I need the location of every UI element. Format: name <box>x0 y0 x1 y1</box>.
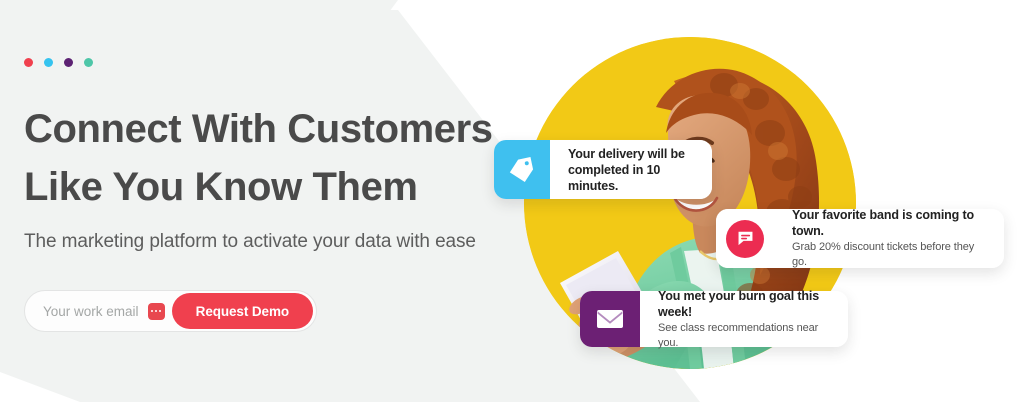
brand-dot-purple-icon <box>64 58 73 67</box>
page-title: Connect With Customers Like You Know The… <box>24 100 524 216</box>
headline-line-2: Like You Know Them <box>24 158 524 216</box>
envelope-icon <box>580 291 640 347</box>
notification-card-burn-goal[interactable]: You met your burn goal this week! See cl… <box>580 291 848 347</box>
page-subtitle: The marketing platform to activate your … <box>24 228 476 256</box>
brand-dots <box>24 58 93 67</box>
headline-line-1: Connect With Customers <box>24 100 524 158</box>
request-demo-button[interactable]: Request Demo <box>172 293 313 329</box>
ellipsis-icon[interactable] <box>148 303 165 320</box>
notification-card-band[interactable]: Your favorite band is coming to town. Gr… <box>716 209 1004 268</box>
brand-dot-red-icon <box>24 58 33 67</box>
card-title: You met your burn goal this week! <box>658 288 830 320</box>
card-title: Your favorite band is coming to town. <box>792 207 986 239</box>
tag-icon <box>494 140 550 199</box>
hero-section: Connect With Customers Like You Know The… <box>0 0 1024 402</box>
card-body: You met your burn goal this week! See cl… <box>640 291 848 347</box>
notification-card-delivery[interactable]: Your delivery will be completed in 10 mi… <box>494 140 712 199</box>
card-body: Your favorite band is coming to town. Gr… <box>774 209 1004 268</box>
brand-dot-cyan-icon <box>44 58 53 67</box>
card-body: Your delivery will be completed in 10 mi… <box>550 140 712 199</box>
hero-copy-column: Connect With Customers Like You Know The… <box>24 0 494 402</box>
chat-bubble-icon <box>726 220 764 258</box>
brand-dot-teal-icon <box>84 58 93 67</box>
email-field[interactable] <box>43 304 148 319</box>
demo-signup-form: Request Demo <box>24 290 317 332</box>
card-subtitle: See class recommendations near you. <box>658 321 830 351</box>
card-title: Your delivery will be completed in 10 mi… <box>568 146 694 194</box>
card-icon-wrap <box>716 209 774 268</box>
card-subtitle: Grab 20% discount tickets before they go… <box>792 240 986 270</box>
